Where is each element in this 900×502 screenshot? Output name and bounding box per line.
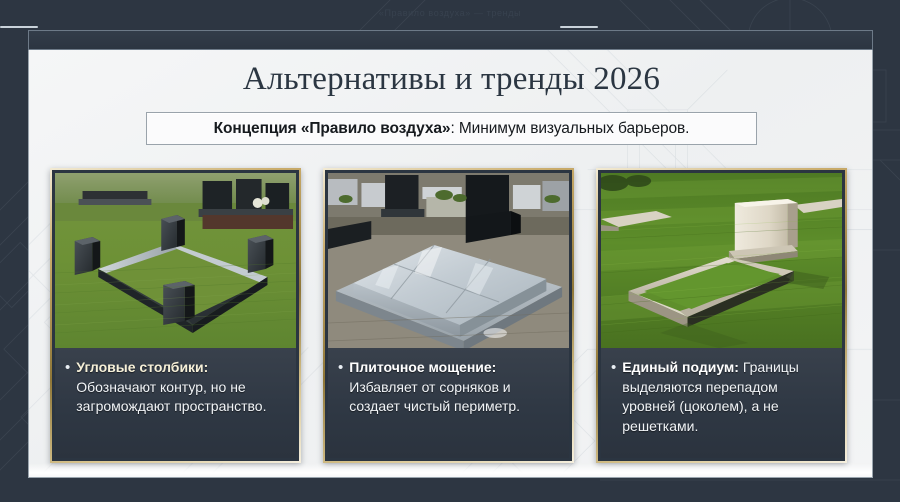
presentation-slide: «Правило воздуха» — тренды xyxy=(0,0,900,502)
card-caption-text: Угловые столбики: Обозначают контур, но … xyxy=(76,358,287,417)
concept-banner-text: Концепция «Правило воздуха»: Минимум виз… xyxy=(214,120,690,138)
slide-content-panel: Альтернативы и тренды 2026 Концепция «Пр… xyxy=(28,50,873,478)
bullet-dot-icon: • xyxy=(338,359,343,376)
bullet-dot-icon: • xyxy=(65,359,70,376)
page-title: Альтернативы и тренды 2026 xyxy=(29,60,873,98)
feature-card-row: • Угловые столбики: Обозначают контур, н… xyxy=(29,168,873,464)
card-caption-bold: Единый подиум: xyxy=(622,359,739,375)
concept-banner-bold: Концепция «Правило воздуха» xyxy=(214,120,451,137)
bullet-dot-icon: • xyxy=(611,359,616,376)
card-inner-frame: • Единый подиум: Границы выделяются пере… xyxy=(598,170,845,461)
concept-banner: Концепция «Правило воздуха»: Минимум виз… xyxy=(146,112,757,145)
card-caption-text: Плиточное мощение: Избавляет от сорняков… xyxy=(349,358,560,417)
concept-banner-rest: : Минимум визуальных барьеров. xyxy=(450,120,689,137)
card-inner-frame: • Угловые столбики: Обозначают контур, н… xyxy=(52,170,299,461)
card-caption-text: Единый подиум: Границы выделяются перепа… xyxy=(622,358,833,436)
card-caption-bold: Плиточное мощение: xyxy=(349,359,496,375)
corner-posts-grave-photo xyxy=(55,173,296,348)
feature-card-single-podium[interactable]: • Единый подиум: Границы выделяются пере… xyxy=(596,168,847,463)
card-caption: • Единый подиум: Границы выделяются пере… xyxy=(601,348,842,458)
card-inner-frame: • Плиточное мощение: Избавляет от сорняк… xyxy=(325,170,572,461)
card-caption-rest: Избавляет от сорняков и создает чистый п… xyxy=(349,379,520,415)
panel-bottom-highlight xyxy=(29,463,873,477)
card-caption: • Плиточное мощение: Избавляет от сорняк… xyxy=(328,348,569,458)
faint-header-text: «Правило воздуха» — тренды xyxy=(0,8,900,18)
tile-paving-grave-photo xyxy=(328,173,569,348)
top-tick-marks xyxy=(0,26,900,29)
card-caption-bold: Угловые столбики: xyxy=(76,359,208,375)
card-caption-rest: Обозначают контур, но не загромождают пр… xyxy=(76,379,266,415)
window-title-bar xyxy=(28,30,873,50)
feature-card-tile-paving[interactable]: • Плиточное мощение: Избавляет от сорняк… xyxy=(323,168,574,463)
single-podium-grave-photo xyxy=(601,173,842,348)
feature-card-corner-posts[interactable]: • Угловые столбики: Обозначают контур, н… xyxy=(50,168,301,463)
card-caption: • Угловые столбики: Обозначают контур, н… xyxy=(55,348,296,458)
